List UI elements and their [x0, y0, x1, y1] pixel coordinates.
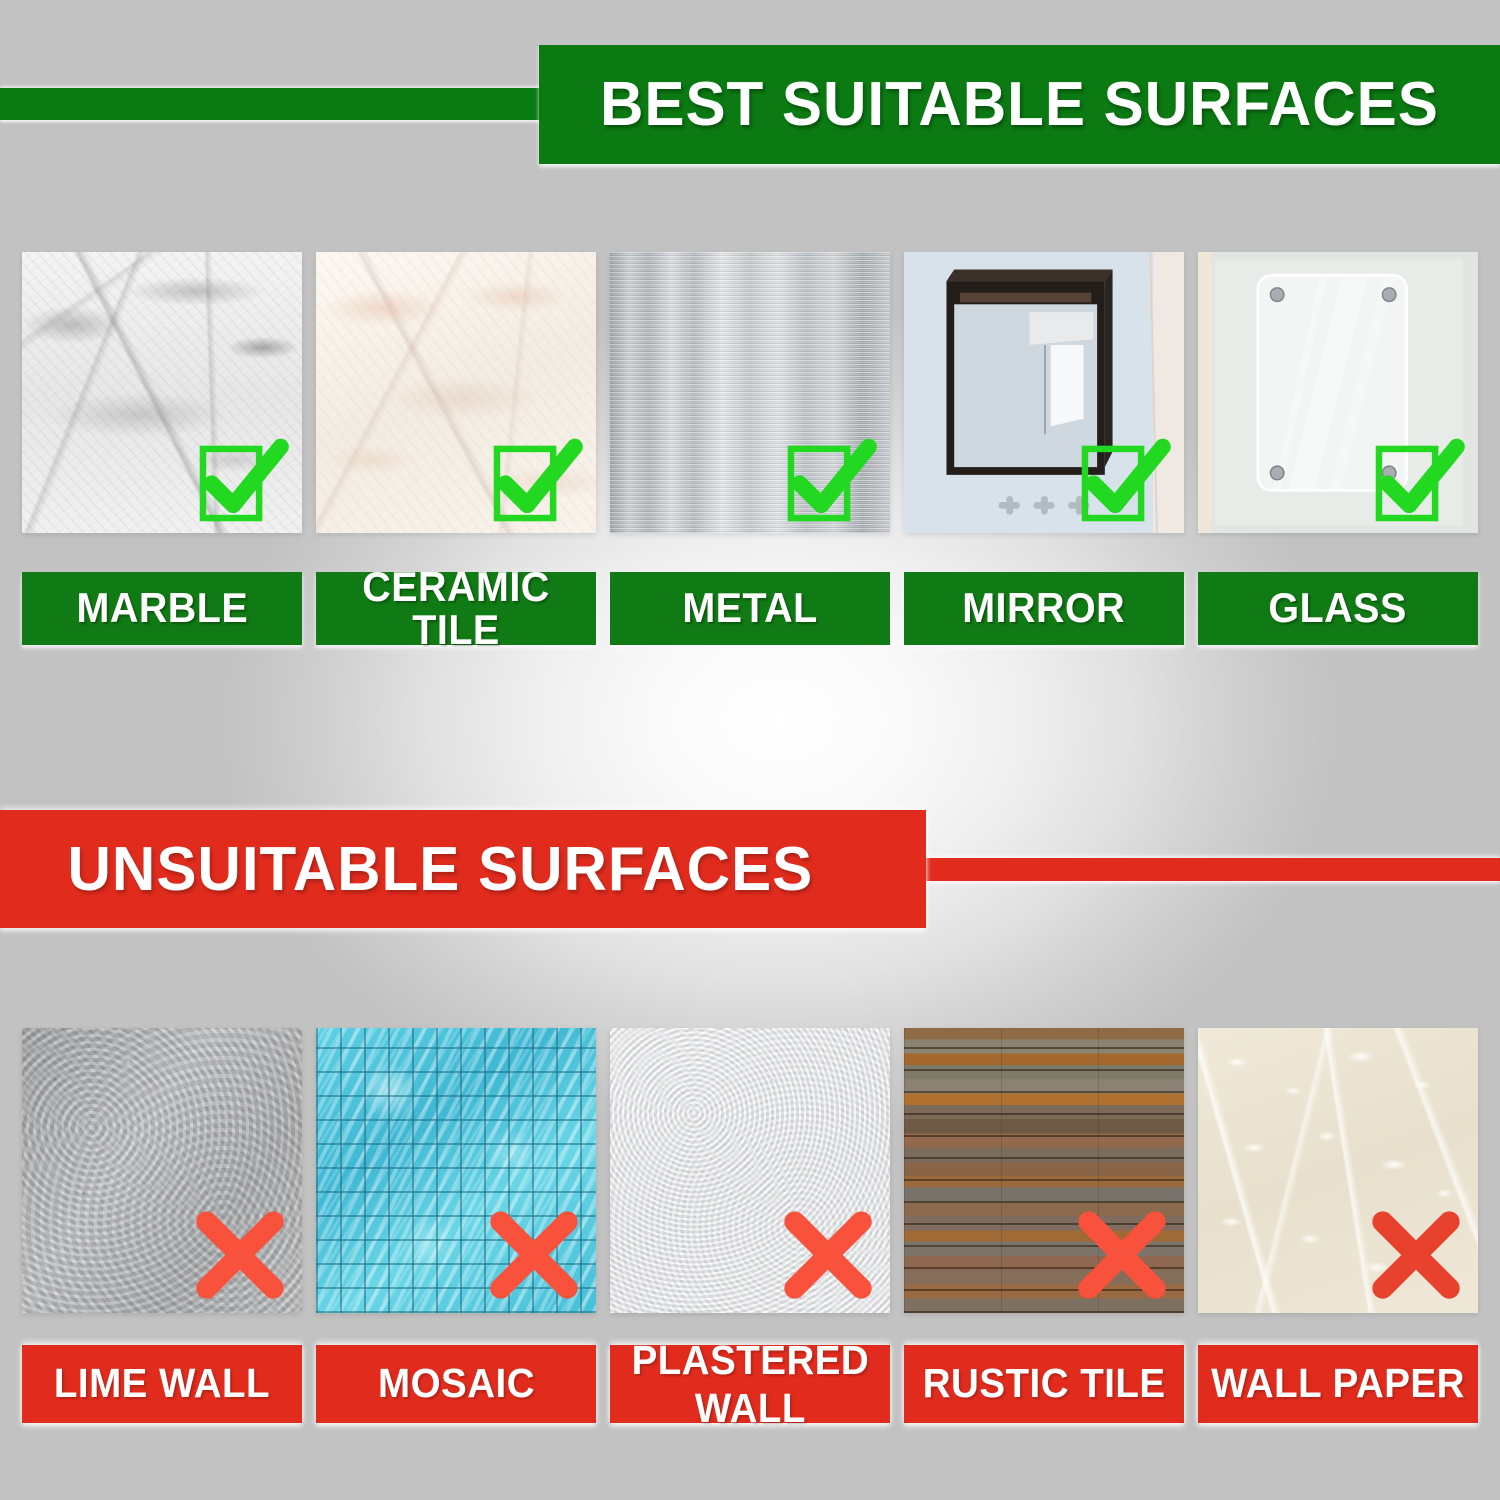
- tile-plastered-wall: [610, 1028, 890, 1313]
- suitable-banner-title: BEST SUITABLE SURFACES: [600, 69, 1439, 140]
- label-plastered-wall: PLASTERED WALL: [610, 1345, 890, 1423]
- cross-icon: [776, 1203, 880, 1307]
- tile-mosaic: [316, 1028, 596, 1313]
- glass-panel-illustration: [1198, 252, 1478, 533]
- tile-metal: [610, 252, 890, 533]
- tile-marble: [22, 252, 302, 533]
- suitable-label-row: MARBLE CERAMIC TILE METAL MIRROR GLASS: [22, 572, 1478, 645]
- unsuitable-label-row: LIME WALL MOSAIC PLASTERED WALL RUSTIC T…: [22, 1345, 1478, 1423]
- tile-rustic-tile: [904, 1028, 1184, 1313]
- check-icon: [778, 423, 886, 531]
- suitable-banner: BEST SUITABLE SURFACES: [539, 45, 1500, 164]
- label-rustic-tile: RUSTIC TILE: [904, 1345, 1184, 1423]
- label-mosaic: MOSAIC: [316, 1345, 596, 1423]
- cross-icon: [1070, 1203, 1174, 1307]
- label-glass: GLASS: [1198, 572, 1478, 645]
- label-marble: MARBLE: [22, 572, 302, 645]
- label-lime-wall: LIME WALL: [22, 1345, 302, 1423]
- label-wall-paper: WALL PAPER: [1198, 1345, 1478, 1423]
- cross-icon: [482, 1203, 586, 1307]
- unsuitable-tile-row: [22, 1028, 1478, 1313]
- cross-icon: [1364, 1203, 1468, 1307]
- label-ceramic-tile: CERAMIC TILE: [316, 572, 596, 645]
- check-icon: [190, 423, 298, 531]
- suitable-tile-row: [22, 252, 1478, 533]
- tile-ceramic-tile: [316, 252, 596, 533]
- tile-mirror: [904, 252, 1184, 533]
- label-metal: METAL: [610, 572, 890, 645]
- unsuitable-banner-title: UNSUITABLE SURFACES: [68, 834, 814, 905]
- tile-wall-paper: [1198, 1028, 1478, 1313]
- mirror-illustration: [904, 252, 1184, 533]
- red-accent-bar: [900, 858, 1500, 881]
- cross-icon: [188, 1203, 292, 1307]
- infographic-page: BEST SUITABLE SURFACES: [0, 0, 1500, 1500]
- green-accent-bar: [0, 88, 560, 120]
- tile-glass: [1198, 252, 1478, 533]
- unsuitable-banner: UNSUITABLE SURFACES: [0, 810, 926, 928]
- label-mirror: MIRROR: [904, 572, 1184, 645]
- check-icon: [484, 423, 592, 531]
- tile-lime-wall: [22, 1028, 302, 1313]
